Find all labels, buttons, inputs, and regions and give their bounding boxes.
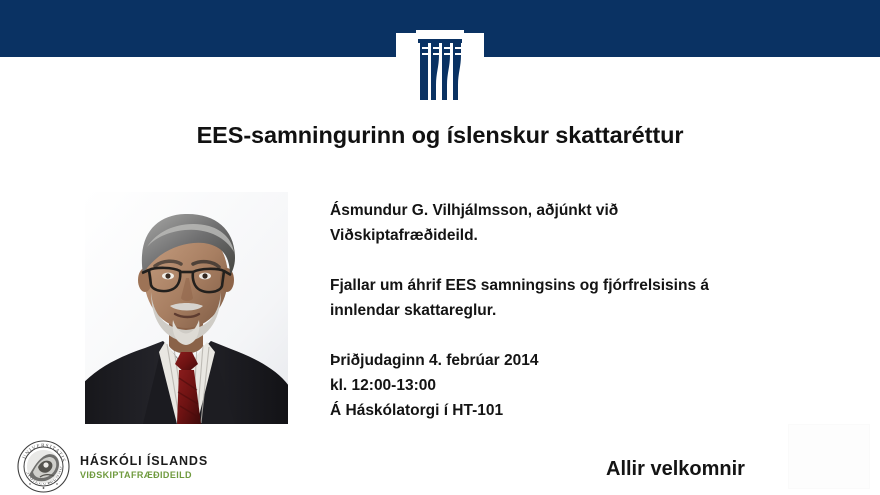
university-footer-logo: UNIVERSITATIS SIGILLUM ISLANDIAE — [16, 437, 208, 495]
description-line-2: innlendar skattareglur. — [330, 298, 830, 323]
university-seal-icon: UNIVERSITATIS SIGILLUM ISLANDIAE — [16, 439, 71, 494]
department-name: VIÐSKIPTAFRÆÐIDEILD — [80, 469, 208, 481]
speaker-paragraph: Ásmundur G. Vilhjálmsson, aðjúnkt við Vi… — [330, 198, 830, 248]
closing-welcome-text: Allir velkomnir — [606, 458, 745, 481]
description-line-1: Fjallar um áhrif EES samningsins og fjór… — [330, 273, 830, 298]
presentation-slide: EES-samningurinn og íslenskur skattarétt… — [0, 0, 880, 495]
event-location: Á Háskólatorgi í HT-101 — [330, 398, 830, 423]
slide-title: EES-samningurinn og íslenskur skattarétt… — [60, 122, 820, 149]
event-time: kl. 12:00-13:00 — [330, 373, 830, 398]
university-columns-icon — [396, 30, 484, 100]
institution-name: HÁSKÓLI ÍSLANDS — [80, 454, 208, 468]
footer-wordmark: HÁSKÓLI ÍSLANDS VIÐSKIPTAFRÆÐIDEILD — [80, 452, 208, 481]
empty-content-placeholder — [788, 424, 870, 489]
slide-body-text: Ásmundur G. Vilhjálmsson, aðjúnkt við Vi… — [330, 198, 830, 423]
speaker-line-2: Viðskiptafræðideild. — [330, 223, 830, 248]
event-details-paragraph: Þriðjudaginn 4. febrúar 2014 kl. 12:00-1… — [330, 348, 830, 423]
speaker-line-1: Ásmundur G. Vilhjálmsson, aðjúnkt við — [330, 198, 830, 223]
description-paragraph: Fjallar um áhrif EES samningsins og fjór… — [330, 273, 830, 323]
speaker-portrait-photo — [85, 192, 288, 424]
event-date: Þriðjudaginn 4. febrúar 2014 — [330, 348, 830, 373]
